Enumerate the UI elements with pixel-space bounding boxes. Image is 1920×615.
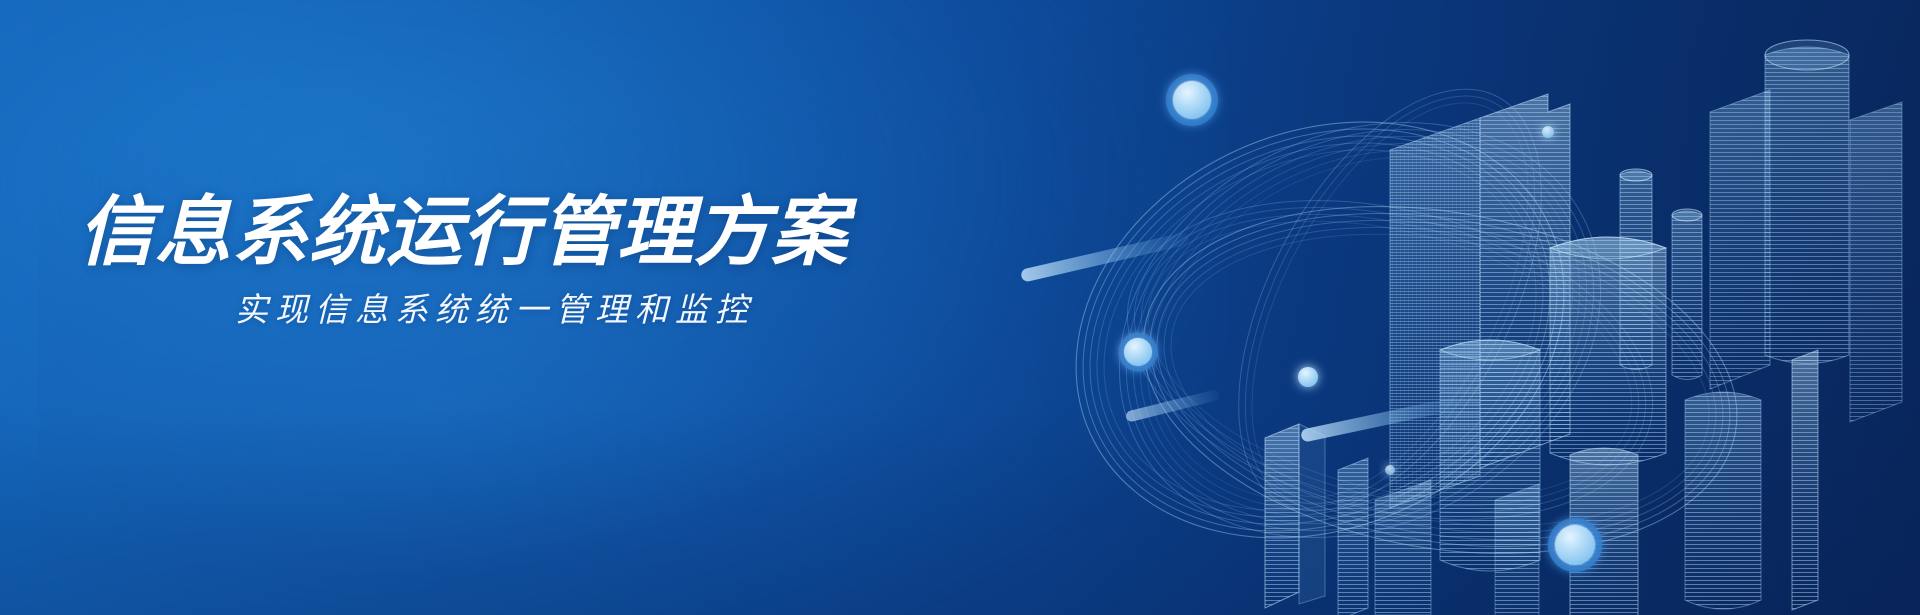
banner-root: 信息系统运行管理方案 实现信息系统统一管理和监控 (0, 0, 1920, 615)
background-vignette-bottom (0, 406, 1920, 615)
page-subtitle: 实现信息系统统一管理和监控 (78, 288, 912, 332)
banner-text-block: 信息系统运行管理方案 实现信息系统统一管理和监控 (78, 190, 978, 332)
page-title: 信息系统运行管理方案 (78, 190, 978, 276)
